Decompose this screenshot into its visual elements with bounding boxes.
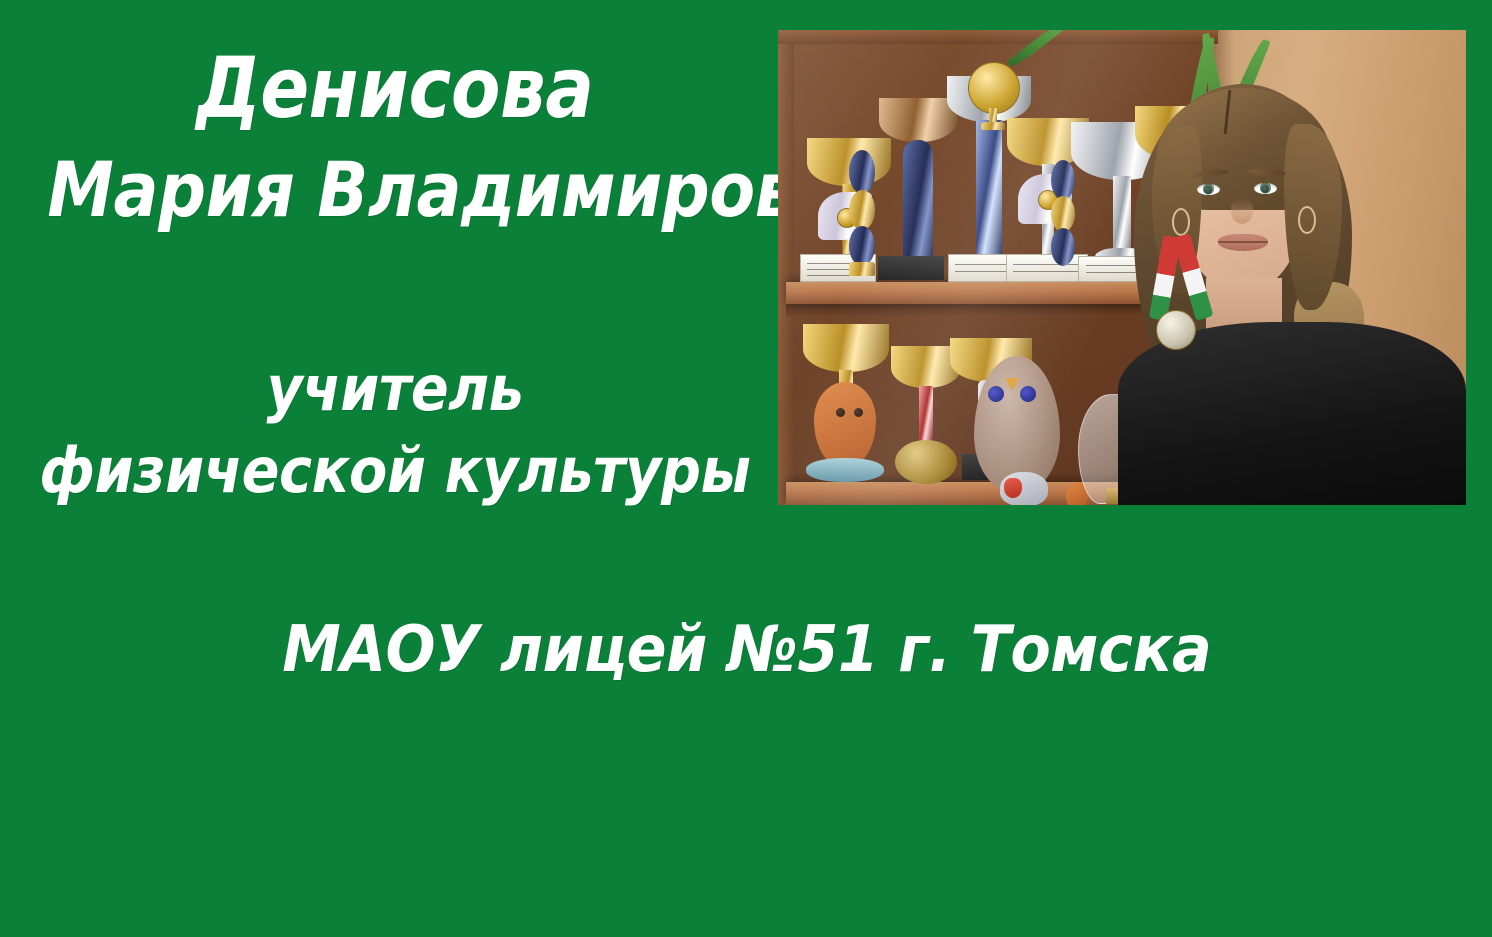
role-line-2: физической культуры bbox=[40, 440, 751, 502]
award-plaque bbox=[878, 256, 944, 280]
earring-left bbox=[1172, 208, 1190, 236]
owl-figurine-ceramic bbox=[814, 382, 876, 466]
owl-beak bbox=[1005, 378, 1019, 391]
trophy-bead-column bbox=[848, 150, 876, 282]
torso-black-top bbox=[1118, 322, 1466, 505]
trophy-medallion bbox=[966, 62, 1020, 132]
owl-eye-left bbox=[988, 386, 1004, 402]
nose bbox=[1231, 198, 1253, 224]
cabinet-left-frame bbox=[778, 30, 794, 505]
trophy-bead-column bbox=[1050, 160, 1076, 282]
lip-line bbox=[1218, 241, 1268, 243]
page-title-surname: Денисова bbox=[55, 46, 734, 130]
eye-left bbox=[1197, 184, 1220, 195]
person-portrait bbox=[1098, 30, 1466, 505]
medal-disc bbox=[1156, 310, 1196, 350]
owl-eye-right bbox=[1020, 386, 1036, 402]
figurine-base bbox=[806, 458, 884, 482]
slide-canvas: Денисова Мария Владимировна учитель физи… bbox=[0, 0, 1492, 937]
teacher-photo bbox=[778, 30, 1466, 505]
page-title-given-patronymic: Мария Владимировна bbox=[47, 152, 742, 228]
organization-name: МАОУ лицей №51 г. Томска bbox=[282, 618, 1138, 682]
eye-right bbox=[1254, 183, 1277, 194]
earring-right bbox=[1298, 206, 1316, 234]
role-line-1: учитель bbox=[40, 358, 751, 420]
strawberry-icon bbox=[1004, 478, 1022, 498]
